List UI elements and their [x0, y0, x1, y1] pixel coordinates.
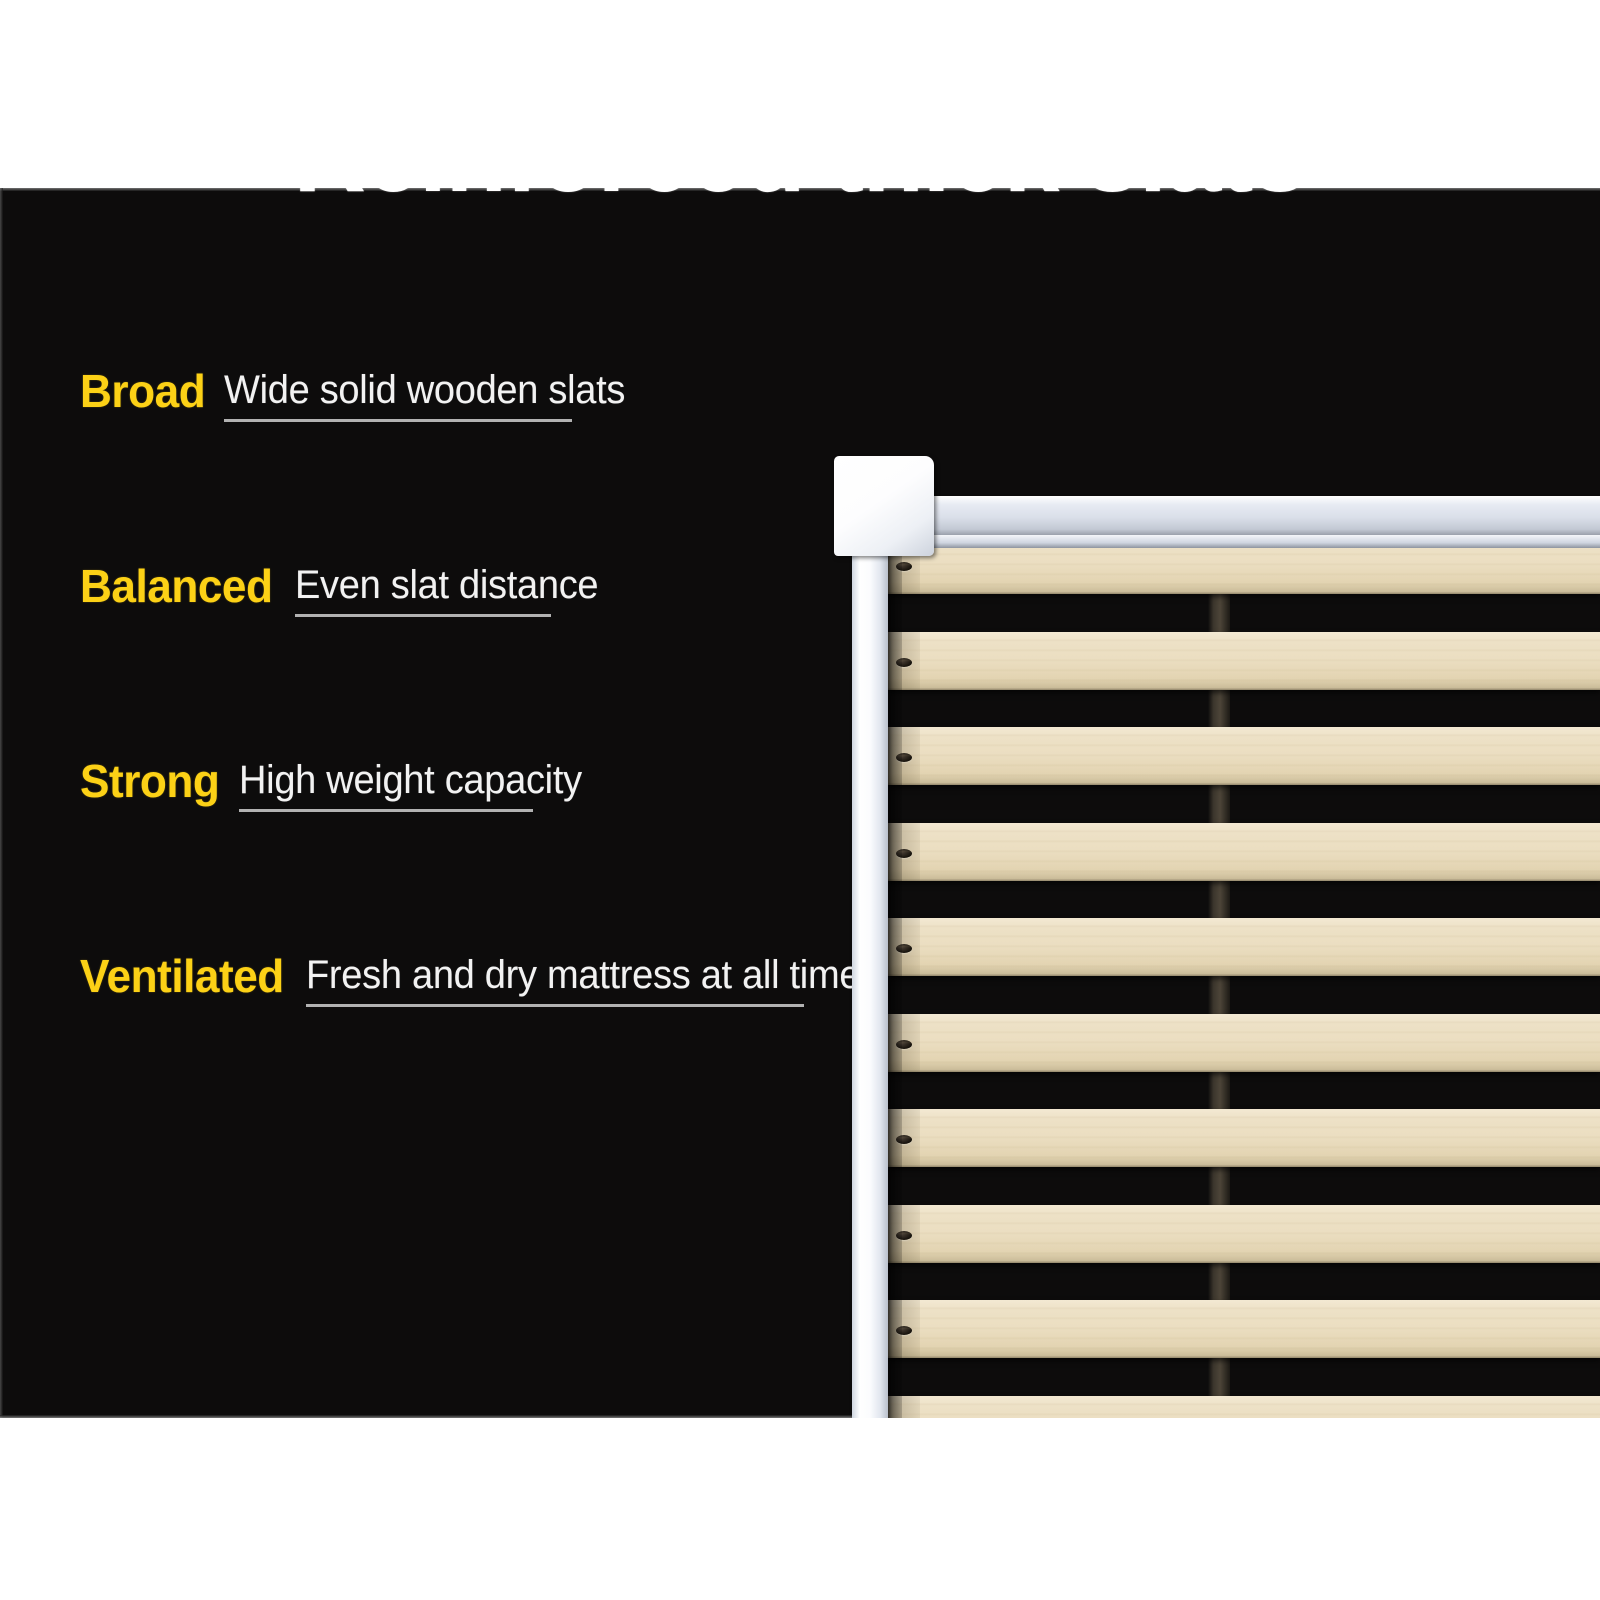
feature-label-strong: Strong: [80, 758, 219, 804]
feature-underline-broad: [224, 419, 572, 422]
feature-desc-wrap-strong: High weight capacity: [239, 758, 600, 816]
feature-description-balanced: Even slat distance: [295, 563, 598, 607]
frame-corner-leg: [852, 548, 888, 1418]
feature-desc-wrap-broad: Wide solid wooden slats: [224, 368, 646, 426]
slat-stack: [874, 536, 1600, 1418]
feature-description-ventilated: Fresh and dry mattress at all times: [306, 953, 879, 997]
wooden-slat: [874, 632, 1600, 690]
wooden-slat: [874, 1109, 1600, 1167]
wooden-slat: [874, 823, 1600, 881]
feature-underline-ventilated: [306, 1004, 804, 1007]
wooden-slat: [874, 1014, 1600, 1072]
feature-list: Broad Wide solid wooden slats Balanced E…: [80, 368, 860, 1148]
frame-top-rail-inner: [928, 535, 1600, 548]
feature-label-broad: Broad: [80, 368, 205, 414]
frame-top-rail: [920, 496, 1600, 535]
wooden-slat: [874, 918, 1600, 976]
panel-left-edge: [0, 188, 3, 1418]
feature-item-ventilated: Ventilated Fresh and dry mattress at all…: [80, 953, 860, 1148]
wooden-slat: [874, 1205, 1600, 1263]
feature-description-broad: Wide solid wooden slats: [224, 368, 625, 412]
feature-desc-wrap-balanced: Even slat distance: [295, 563, 614, 621]
frame-corner-cap: [834, 456, 934, 556]
wooden-slat: [874, 1396, 1600, 1419]
side-rail-shadow: [888, 548, 902, 1418]
feature-label-balanced: Balanced: [80, 563, 273, 609]
infographic-page: Reinforced thick slats Broad Wide solid …: [0, 0, 1600, 1600]
feature-item-strong: Strong High weight capacity: [80, 758, 860, 953]
feature-underline-strong: [239, 809, 533, 812]
feature-description-strong: High weight capacity: [239, 758, 582, 802]
feature-label-ventilated: Ventilated: [80, 953, 284, 999]
feature-item-balanced: Balanced Even slat distance: [80, 563, 860, 758]
feature-underline-balanced: [295, 614, 551, 617]
product-photo-bed-slats: [810, 188, 1600, 1418]
feature-item-broad: Broad Wide solid wooden slats: [80, 368, 860, 563]
wooden-slat: [874, 1300, 1600, 1358]
wooden-slat: [874, 727, 1600, 785]
